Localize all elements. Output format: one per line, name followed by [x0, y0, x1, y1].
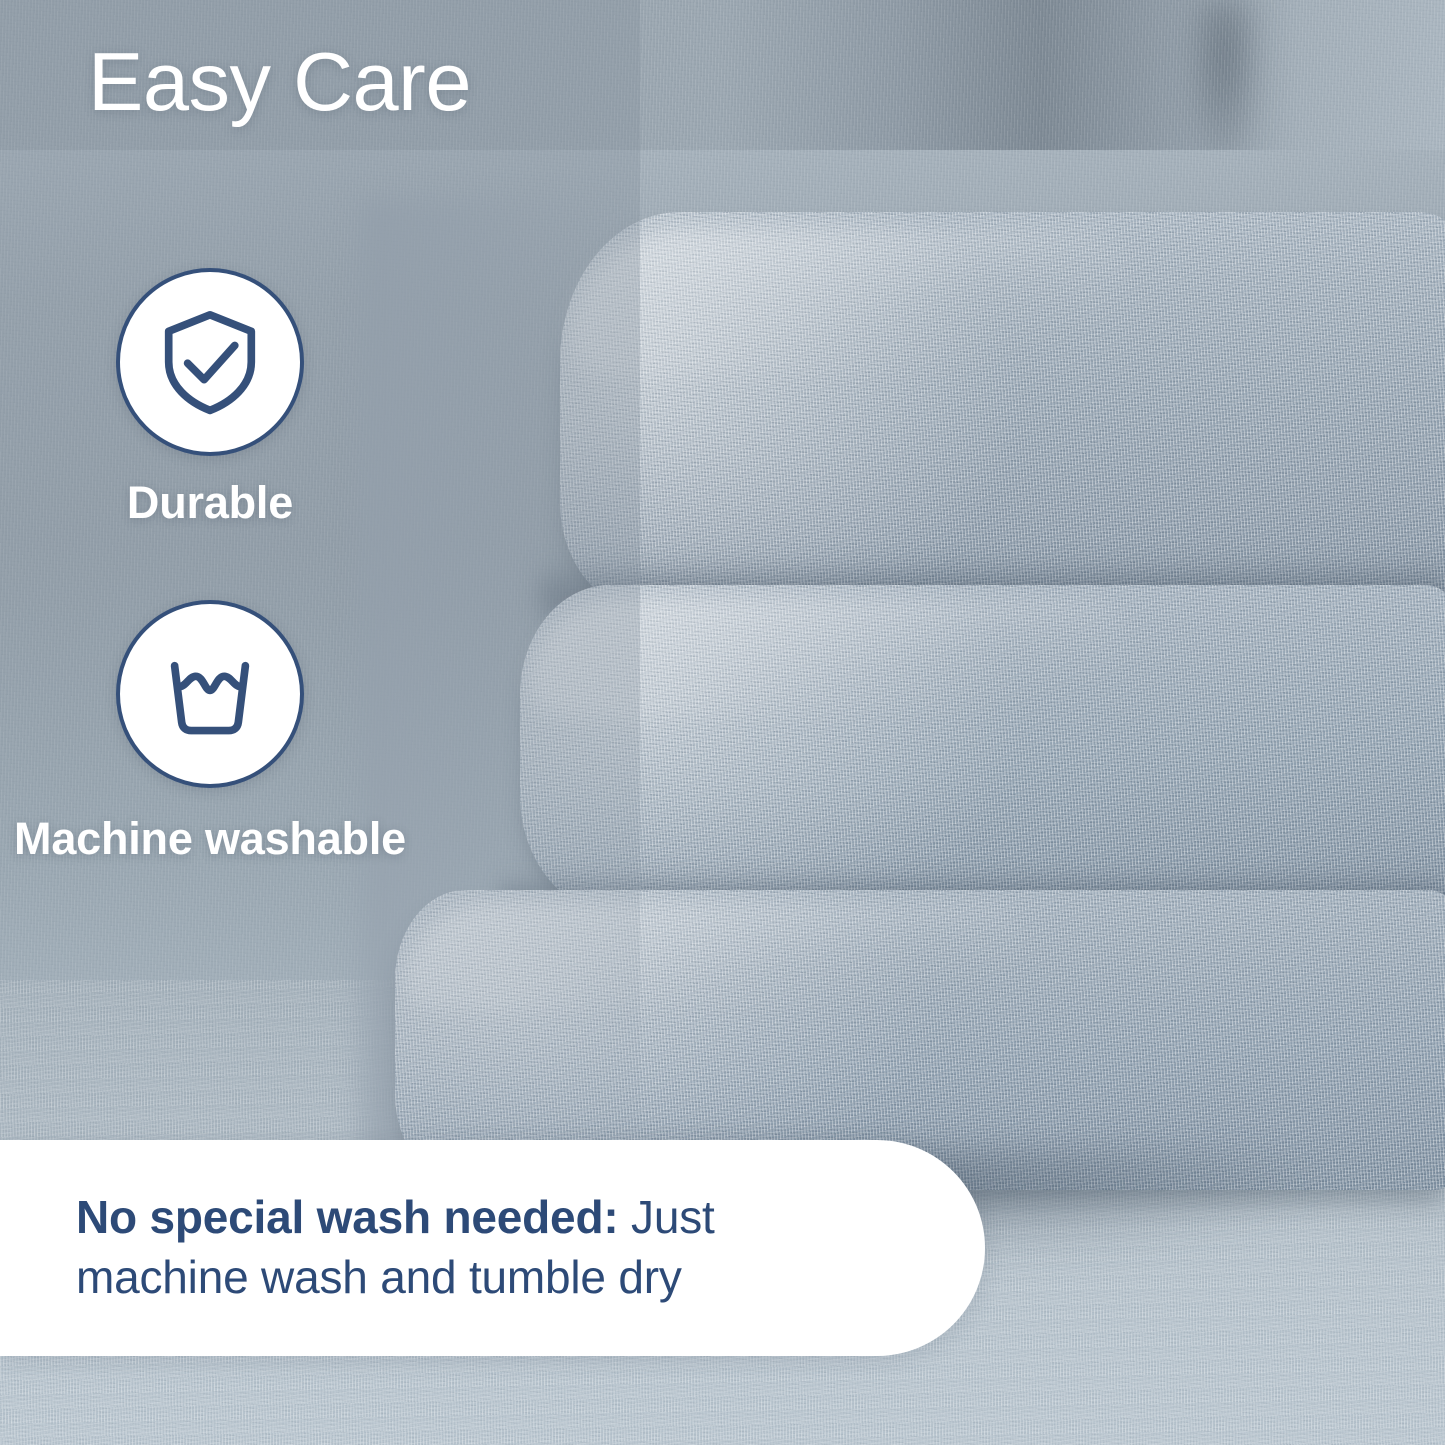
caption-text: No special wash needed: Just machine was…	[0, 1188, 985, 1308]
fold-highlight-top	[568, 228, 1128, 378]
feature-icon-circle	[116, 268, 304, 456]
feature-machine-washable: Machine washable	[0, 600, 420, 864]
product-feature-image: Easy Care Durable Machine washable	[0, 0, 1445, 1445]
feature-durable: Durable	[0, 268, 420, 528]
feature-label: Durable	[0, 478, 420, 528]
wash-tub-icon	[151, 635, 269, 753]
page-title: Easy Care	[88, 38, 471, 125]
feature-icon-circle	[116, 600, 304, 788]
feature-label: Machine washable	[0, 814, 420, 864]
caption-banner: No special wash needed: Just machine was…	[0, 1140, 985, 1356]
shield-check-icon	[151, 303, 269, 421]
caption-lead: No special wash needed:	[76, 1191, 618, 1243]
